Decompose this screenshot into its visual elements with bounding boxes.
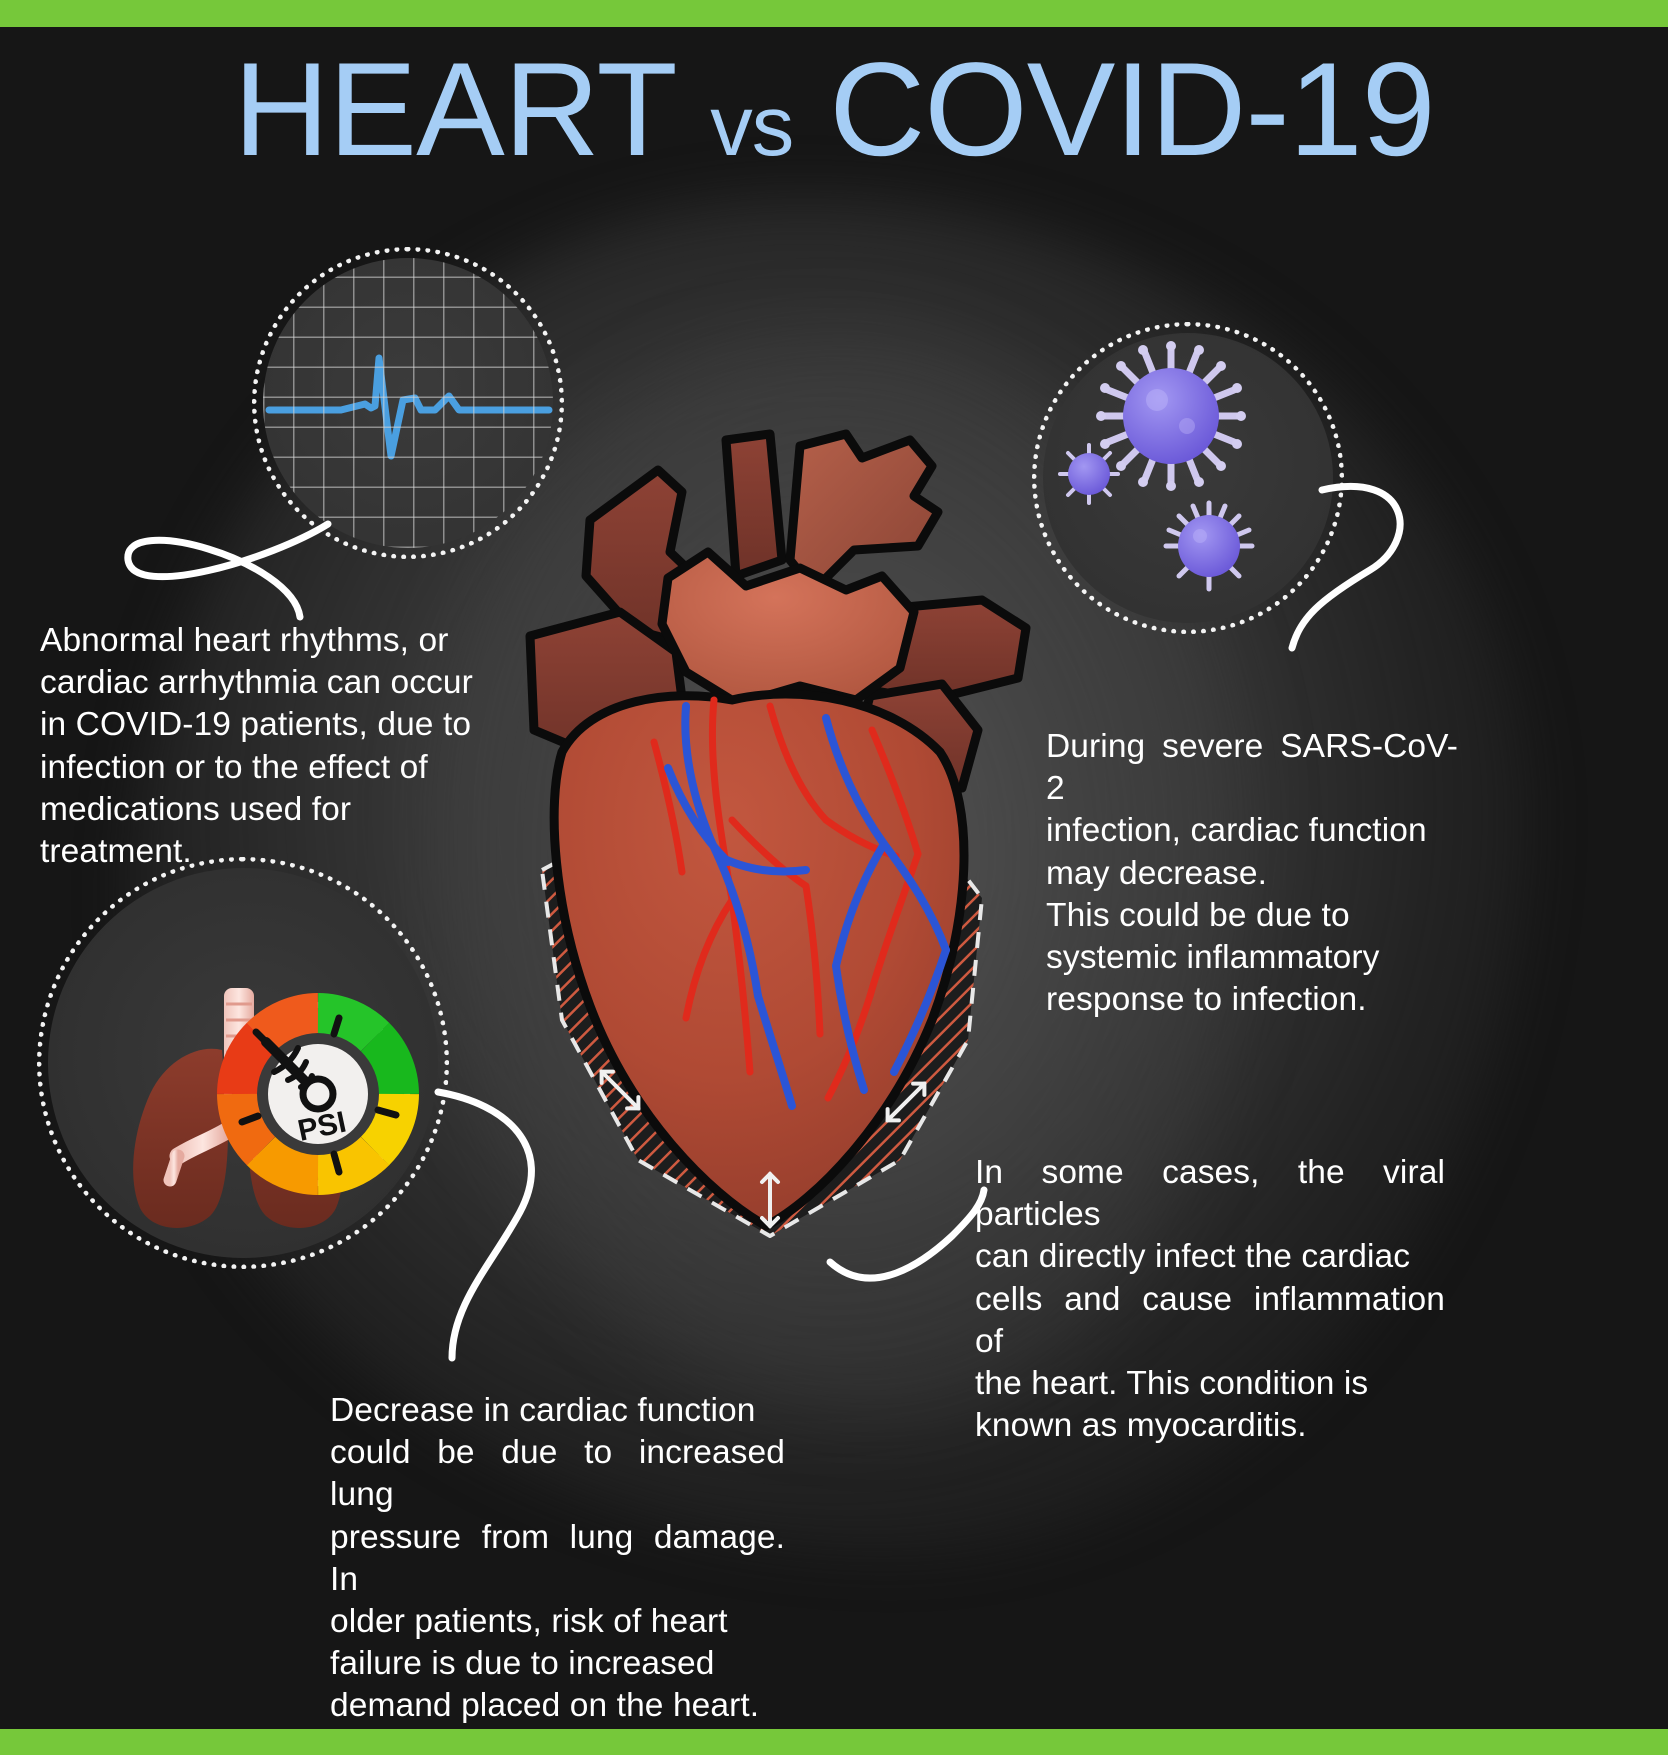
callout-line: older patients, risk of heart (330, 1601, 785, 1643)
title-part-heart: HEART (233, 36, 674, 184)
callout-severe-infection: During severe SARS-CoV-2 infection, card… (1046, 726, 1458, 1021)
lungs-pressure-gauge-icon: PSI (48, 868, 438, 1258)
title-part-covid: COVID-19 (829, 36, 1434, 184)
aortic-arch (790, 434, 938, 590)
title-vs: vs (710, 79, 793, 174)
virus-medium-bottom (1166, 503, 1252, 589)
callout-line: pressure from lung damage. In (330, 1517, 785, 1601)
badge-ecg-waveform (263, 258, 553, 548)
superior-vena-cava (726, 434, 782, 576)
callout-line: cardiac arrhythmia can occur (40, 662, 500, 704)
callout-line: may decrease. (1046, 853, 1458, 895)
coronavirus-icon (1043, 333, 1333, 623)
callout-line: infection, cardiac function (1046, 810, 1458, 852)
badge-inner-virus (1043, 333, 1333, 623)
ecg-grid-icon (263, 258, 553, 548)
callout-line: known as myocarditis. (975, 1405, 1445, 1447)
callout-line: demand placed on the heart. (330, 1685, 785, 1727)
top-accent-bar (0, 0, 1668, 27)
virus-small-left (1060, 445, 1118, 503)
badge-lungs-pressure: PSI (48, 868, 438, 1258)
callout-line: could be due to increased lung (330, 1432, 785, 1516)
badge-inner-ecg (263, 258, 553, 548)
callout-line: the heart. This condition is (975, 1363, 1445, 1405)
callout-line: response to infection. (1046, 979, 1458, 1021)
pressure-gauge-icon: PSI (226, 1002, 410, 1186)
callout-line: cells and cause inflammation of (975, 1279, 1445, 1363)
callout-lung-pressure: Decrease in cardiac function could be du… (330, 1390, 785, 1728)
callout-line: can directly infect the cardiac (975, 1236, 1445, 1278)
callout-line: medications used for treatment. (40, 789, 500, 873)
heart-atria (662, 552, 914, 704)
callout-arrhythmia: Abnormal heart rhythms, or cardiac arrhy… (40, 620, 500, 873)
callout-line: failure is due to increased (330, 1643, 785, 1685)
callout-myocarditis: In some cases, the viral particles can d… (975, 1152, 1445, 1447)
bottom-accent-bar (0, 1729, 1668, 1755)
callout-line: infection or to the effect of (40, 747, 500, 789)
callout-line: During severe SARS-CoV-2 (1046, 726, 1458, 810)
callout-line: This could be due to (1046, 895, 1458, 937)
callout-line: Decrease in cardiac function (330, 1390, 785, 1432)
callout-line: Abnormal heart rhythms, or (40, 620, 500, 662)
page-title: HEART vs COVID-19 (0, 44, 1668, 177)
callout-line: systemic inflammatory (1046, 937, 1458, 979)
callout-line: In some cases, the viral particles (975, 1152, 1445, 1236)
infographic-poster: HEART vs COVID-19 (0, 0, 1668, 1755)
badge-inner-lungs: PSI (48, 868, 438, 1258)
virus-large (1096, 341, 1246, 491)
badge-coronavirus (1043, 333, 1333, 623)
callout-line: in COVID-19 patients, due to (40, 704, 500, 746)
